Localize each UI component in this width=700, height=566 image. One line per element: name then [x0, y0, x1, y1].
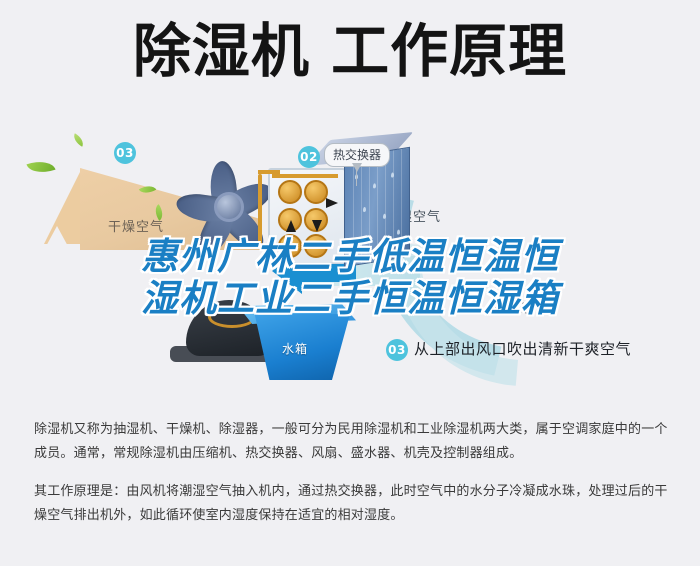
heat-exchanger-fin-icon	[369, 154, 370, 262]
callout-tail-icon	[352, 163, 362, 172]
badge-02: 02	[298, 146, 320, 168]
flow-arrow-right-icon	[326, 198, 338, 208]
badge-03-alt: 03	[386, 339, 408, 361]
leaf-icon	[71, 133, 86, 146]
condense-note: 成水珠	[494, 298, 535, 317]
article-body: 除湿机又称为抽湿机、干燥机、除湿器，一般可分为民用除湿机和工业除湿机两大类，属于…	[34, 418, 668, 528]
water-tank-label: 水箱	[282, 340, 308, 357]
badge-03: 03	[114, 142, 136, 164]
heat-exchanger-fin-icon	[393, 150, 394, 258]
refrigerant-coil-assembly-icon	[268, 168, 346, 264]
page-title: 除湿机 工作原理	[0, 22, 700, 80]
top-outlet-note: 从上部出风口吹出清新干爽空气	[414, 338, 631, 359]
coil-pipe-icon	[258, 174, 262, 248]
condensation-drop-icon	[363, 207, 366, 212]
flow-arrow-up-icon	[286, 220, 296, 232]
coil-pipe-icon	[272, 174, 338, 178]
condensation-drop-icon	[397, 229, 400, 234]
flow-arrow-down-icon	[312, 220, 322, 232]
coil-loop-icon	[278, 180, 302, 204]
heat-exchanger-fin-icon	[385, 152, 386, 260]
heat-exchanger-fin-icon	[401, 149, 402, 257]
body-paragraph-2: 其工作原理是：由风机将潮湿空气抽入机内，通过热交换器，此时空气中的水分子冷凝成水…	[34, 480, 668, 528]
heat-exchanger-fin-icon	[377, 153, 378, 261]
dehumidifier-principle-illustration: 01 潮湿空气 03 干燥空气	[0, 108, 700, 398]
coil-loop-icon	[304, 234, 328, 258]
callout-leader-icon	[356, 170, 357, 186]
heat-exchanger-fin-icon	[353, 157, 354, 265]
water-tank-icon: 水箱	[238, 304, 356, 382]
dry-air-label: 干燥空气	[108, 216, 164, 235]
fan-hub-icon	[214, 192, 244, 222]
coil-loop-icon	[278, 234, 302, 258]
condensation-drop-icon	[373, 183, 376, 188]
dry-air-arrow-head-icon	[44, 168, 82, 244]
body-paragraph-1: 除湿机又称为抽湿机、干燥机、除湿器，一般可分为民用除湿机和工业除湿机两大类，属于…	[34, 418, 668, 466]
page-title-text: 除湿机 工作原理	[133, 22, 567, 80]
coil-loop-icon	[304, 180, 328, 204]
